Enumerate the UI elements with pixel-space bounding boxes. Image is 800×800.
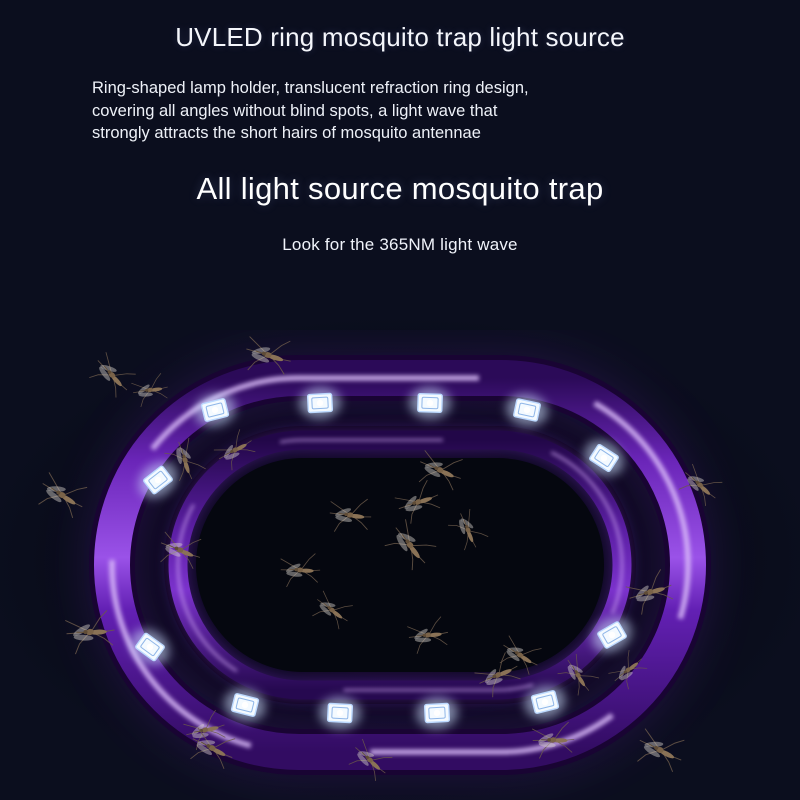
subtitle: Look for the 365NM light wave — [0, 235, 800, 255]
description-line-3: strongly attracts the short hairs of mos… — [92, 122, 652, 144]
uv-led-ring-lamp — [0, 330, 800, 800]
description-paragraph: Ring-shaped lamp holder, translucent ref… — [92, 77, 652, 144]
ring-inner-core — [196, 458, 604, 672]
description-line-2: covering all angles without blind spots,… — [92, 100, 652, 122]
description-line-1: Ring-shaped lamp holder, translucent ref… — [92, 77, 652, 99]
product-promo-image: UVLED ring mosquito trap light source Ri… — [0, 0, 800, 800]
page-title: UVLED ring mosquito trap light source — [0, 22, 800, 53]
ring-graphic — [0, 330, 800, 800]
headline: All light source mosquito trap — [0, 171, 800, 207]
text-block: UVLED ring mosquito trap light source Ri… — [0, 0, 800, 255]
